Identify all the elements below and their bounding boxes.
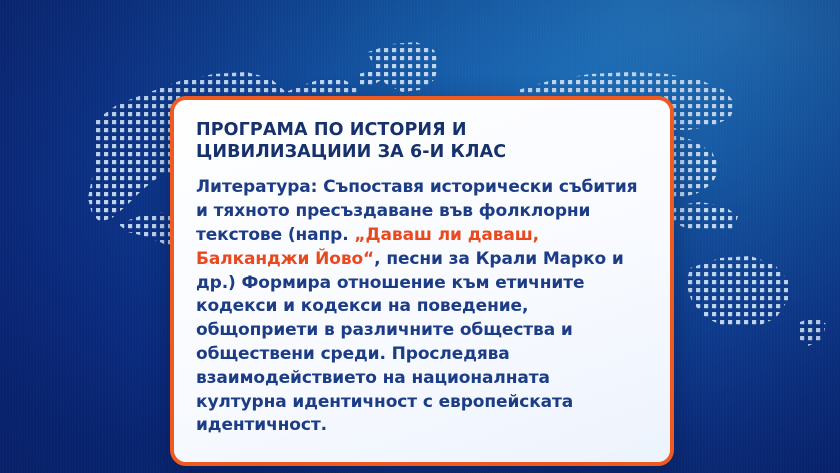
page-title: ПРОГРАМА ПО ИСТОРИЯ И ЦИВИЛИЗАЦИИИ ЗА 6-… xyxy=(196,120,644,163)
lower-third-card: ПРОГРАМА ПО ИСТОРИЯ И ЦИВИЛИЗАЦИИИ ЗА 6-… xyxy=(170,96,674,466)
broadcast-screen: ПРОГРАМА ПО ИСТОРИЯ И ЦИВИЛИЗАЦИИИ ЗА 6-… xyxy=(0,0,840,473)
card-body-text: Литература: Съпоставя исторически събити… xyxy=(196,176,644,438)
body-segment-2: , песни за Крали Марко и др.) Формира от… xyxy=(196,249,624,436)
